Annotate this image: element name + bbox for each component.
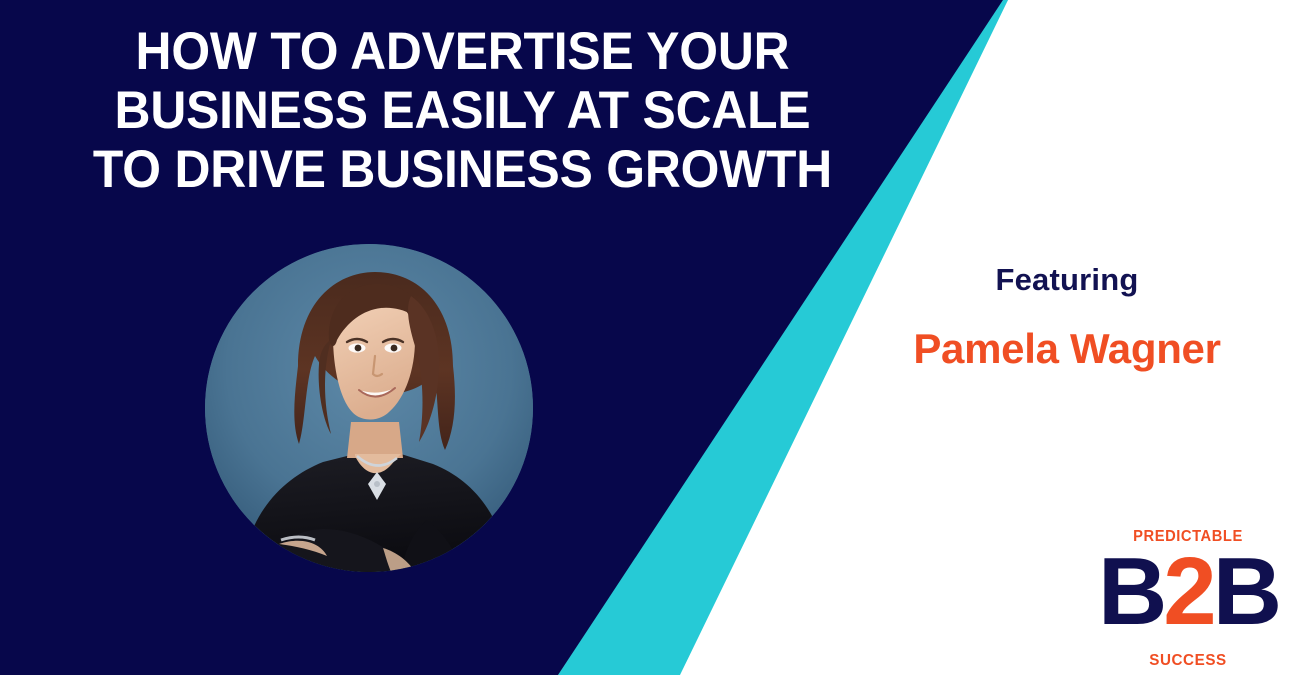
title-line-1: HOW TO ADVERTISE YOUR [28, 22, 898, 81]
logo-letter-b-right: B [1213, 538, 1278, 645]
speaker-portrait [205, 244, 533, 572]
title-line-3: TO DRIVE BUSINESS GROWTH [28, 140, 898, 199]
speaker-name: Pamela Wagner [862, 325, 1272, 373]
featuring-label: Featuring [882, 262, 1252, 298]
page-title: HOW TO ADVERTISE YOUR BUSINESS EASILY AT… [0, 22, 925, 199]
title-line-2: BUSINESS EASILY AT SCALE [28, 81, 898, 140]
logo-letter-b-left: B [1098, 538, 1163, 645]
logo-wordmark: B2B [1093, 540, 1283, 640]
brand-logo: PREDICTABLE B2B SUCCESS [1093, 528, 1283, 670]
logo-digit-two: 2 [1163, 538, 1212, 645]
webinar-title-slide: HOW TO ADVERTISE YOUR BUSINESS EASILY AT… [0, 0, 1290, 675]
logo-bottom-text: SUCCESS [1098, 652, 1279, 670]
portrait-illustration [205, 244, 533, 572]
